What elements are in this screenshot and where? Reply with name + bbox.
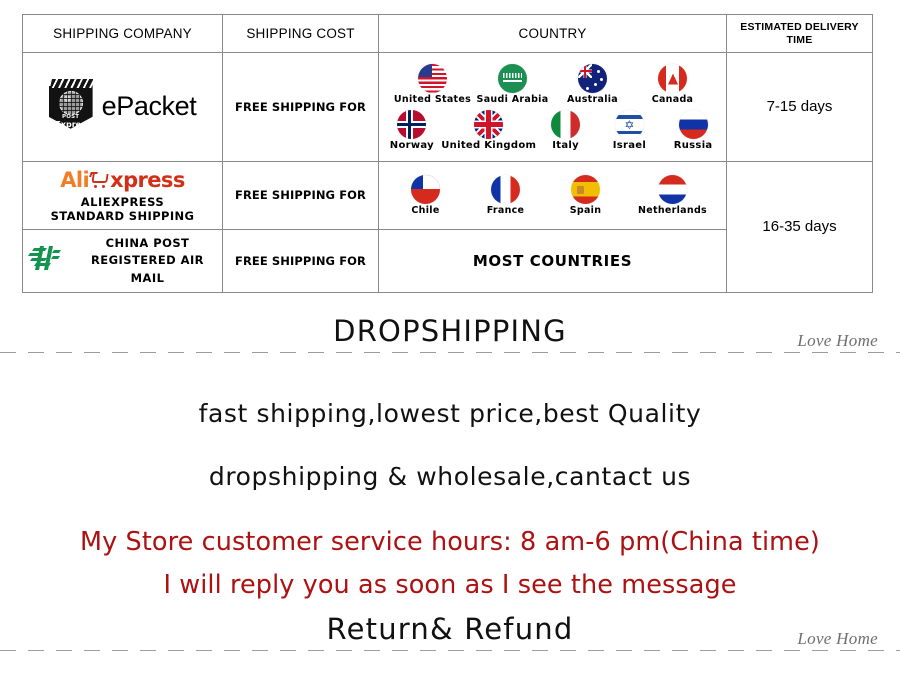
flag-italy-icon [551, 110, 580, 139]
flag-united-kingdom-icon [474, 110, 503, 139]
aliexpress-name-line1: ALIEXPRESS [27, 195, 218, 209]
shopping-cart-icon [90, 172, 109, 188]
cell-countries-most: MOST COUNTRIES [379, 230, 727, 293]
cell-countries-epacket: United States Saudi Arabia [379, 53, 727, 162]
promo-section: DROPSHIPPING Love Home fast shipping,low… [0, 300, 900, 651]
flag-australia-icon [578, 64, 607, 93]
aliexpress-ali-text: Ali [60, 167, 89, 193]
flag-canada-icon [658, 64, 687, 93]
country-label: Italy [552, 140, 579, 151]
china-post-line2: REGISTERED AIR MAIL [91, 253, 204, 284]
flag-row-3: Chile France Spain Netherlands [383, 175, 722, 216]
flag-russia-icon [679, 110, 708, 139]
country-canada: Canada [636, 64, 710, 105]
country-label: United Kingdom [441, 140, 536, 151]
epacket-logo: POSTExpres ePacket [27, 79, 218, 135]
country-norway: Norway [383, 110, 441, 151]
country-saudi-arabia: Saudi Arabia [476, 64, 550, 105]
flag-israel-icon: ✡ [615, 110, 644, 139]
promo-line-2: dropshipping & wholesale,cantact us [209, 462, 691, 491]
watermark-top: Love Home [791, 331, 884, 351]
cell-delivery-time-epacket: 7-15 days [727, 53, 873, 162]
country-label: Spain [570, 205, 602, 216]
china-post-logo: CHINA POST REGISTERED AIR MAIL [27, 235, 218, 287]
country-label: Russia [674, 140, 713, 151]
dropshipping-band: DROPSHIPPING Love Home [0, 300, 900, 353]
flag-netherlands-icon [658, 175, 687, 204]
china-post-name: CHINA POST REGISTERED AIR MAIL [77, 235, 218, 287]
country-label: Israel [613, 140, 646, 151]
service-hours-text: My Store customer service hours: 8 am-6 … [80, 527, 820, 557]
reply-note-text: I will reply you as soon as I see the me… [163, 570, 736, 600]
reply-note-wrap: I will reply you as soon as I see the me… [0, 570, 900, 600]
country-spain: Spain [549, 175, 623, 216]
flag-united-states-icon [418, 64, 447, 93]
country-label: Netherlands [638, 205, 707, 216]
table-row: POSTExpres ePacket FREE SHIPPING FOR Uni… [23, 53, 873, 162]
aliexpress-name-line2: STANDARD SHIPPING [27, 209, 218, 223]
shipping-info-banner: { "table": { "headers": { "company": "SH… [0, 0, 900, 700]
flag-grid: United States Saudi Arabia [383, 60, 722, 153]
country-israel: ✡ Israel [601, 110, 659, 151]
country-italy: Italy [537, 110, 595, 151]
cell-cost-aliexpress: FREE SHIPPING FOR [223, 161, 379, 230]
header-country: COUNTRY [379, 15, 727, 53]
cell-company-epacket: POSTExpres ePacket [23, 53, 223, 162]
cell-company-china-post: CHINA POST REGISTERED AIR MAIL [23, 230, 223, 293]
promo-line-1: fast shipping,lowest price,best Quality [199, 399, 702, 428]
header-shipping-company: SHIPPING COMPANY [23, 15, 223, 53]
aliexpress-xpress-text: xpress [110, 167, 185, 193]
cell-countries-aliexpress: Chile France Spain Netherlands [379, 161, 727, 230]
shipping-table: SHIPPING COMPANY SHIPPING COST COUNTRY E… [22, 14, 873, 293]
flag-row-2: Norway United Kingdom Italy ✡ Is [383, 110, 722, 151]
cell-delivery-time-standard: 16-35 days [727, 161, 873, 293]
country-label: United States [394, 94, 471, 105]
aliexpress-wordmark: Ali xpress [27, 167, 218, 193]
china-post-mark-icon [27, 244, 65, 279]
flag-spain-icon [571, 175, 600, 204]
country-united-kingdom: United Kingdom [447, 110, 531, 151]
country-label: Norway [390, 140, 434, 151]
country-russia: Russia [664, 110, 722, 151]
dropshipping-title: DROPSHIPPING [0, 314, 900, 348]
country-united-states: United States [396, 64, 470, 105]
watermark-bottom: Love Home [791, 629, 884, 649]
country-label: Australia [567, 94, 618, 105]
cell-company-aliexpress: Ali xpress ALIEXPRESS STANDARD SHIPPING [23, 161, 223, 230]
cell-cost-epacket: FREE SHIPPING FOR [223, 53, 379, 162]
country-label: Chile [411, 205, 439, 216]
table-row: Ali xpress ALIEXPRESS STANDARD SHIPPING … [23, 161, 873, 230]
country-france: France [469, 175, 543, 216]
service-hours-wrap: My Store customer service hours: 8 am-6 … [0, 527, 900, 557]
table-header-row: SHIPPING COMPANY SHIPPING COST COUNTRY E… [23, 15, 873, 53]
flag-chile-icon [411, 175, 440, 204]
promo-line-2-wrap: dropshipping & wholesale,cantact us [0, 462, 900, 491]
return-refund-title: Return& Refund [0, 612, 900, 646]
header-estimated-delivery-time: ESTIMATED DELIVERY TIME [727, 15, 873, 53]
flag-saudi-arabia-icon [498, 64, 527, 93]
divider-top [0, 352, 900, 353]
cell-cost-china-post: FREE SHIPPING FOR [223, 230, 379, 293]
divider-bottom [0, 650, 900, 651]
flag-norway-icon [397, 110, 426, 139]
country-label: Canada [652, 94, 694, 105]
flag-france-icon [491, 175, 520, 204]
header-shipping-cost: SHIPPING COST [223, 15, 379, 53]
epacket-label: ePacket [102, 91, 197, 122]
country-label: France [487, 205, 525, 216]
promo-line-1-wrap: fast shipping,lowest price,best Quality [0, 399, 900, 428]
china-post-line1: CHINA POST [106, 236, 190, 250]
country-australia: Australia [556, 64, 630, 105]
return-refund-band: Return& Refund Love Home [0, 612, 900, 651]
aliexpress-logo: Ali xpress ALIEXPRESS STANDARD SHIPPING [27, 167, 218, 224]
country-chile: Chile [389, 175, 463, 216]
post-express-badge-icon: POSTExpres [49, 79, 93, 135]
flag-row-1: United States Saudi Arabia [383, 64, 722, 105]
shipping-table-container: SHIPPING COMPANY SHIPPING COST COUNTRY E… [22, 14, 872, 293]
country-netherlands: Netherlands [629, 175, 717, 216]
country-label: Saudi Arabia [477, 94, 549, 105]
